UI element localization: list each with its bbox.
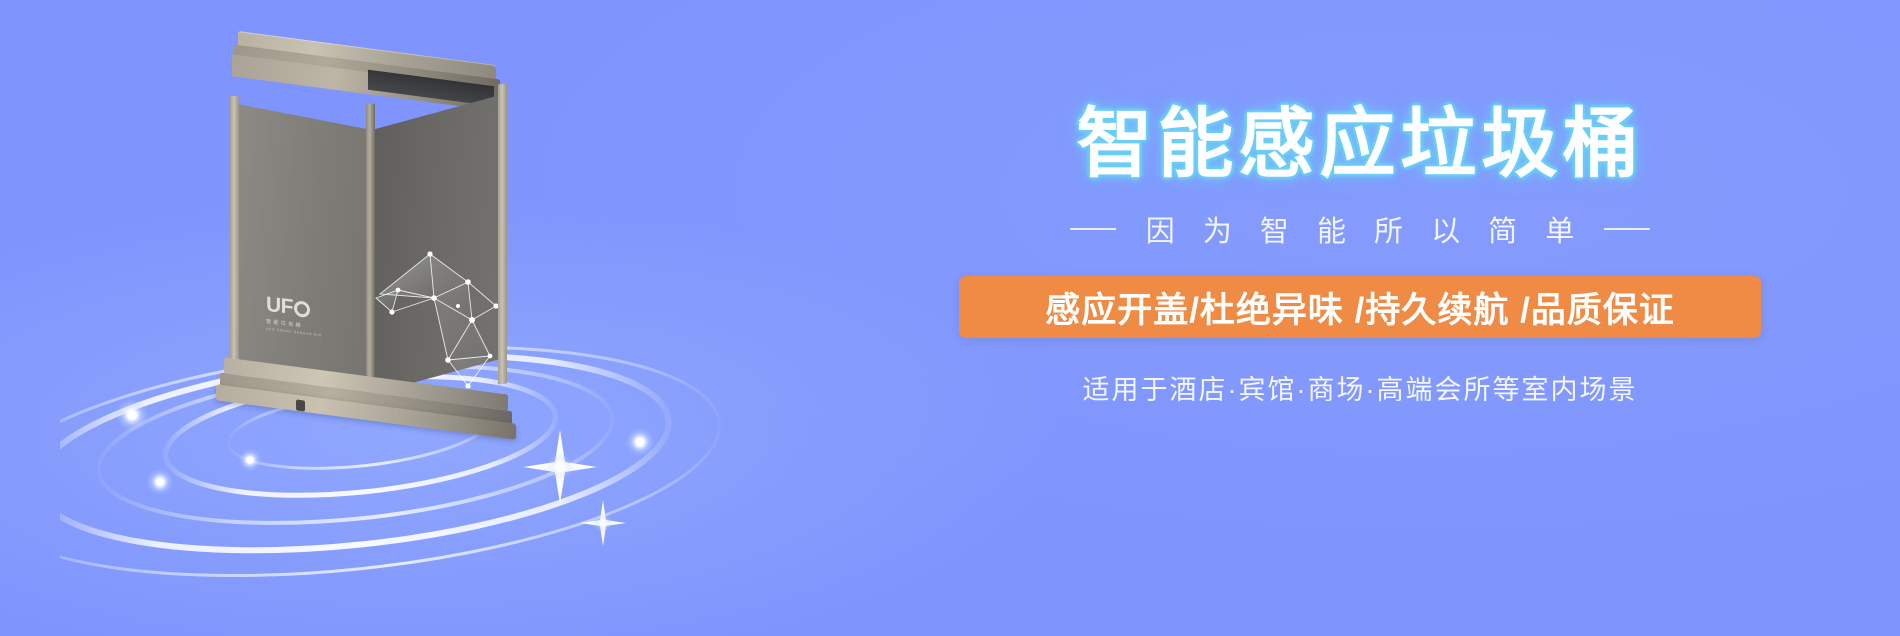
smart-trash-bin: UF 智能垃圾桶 UFO SMART SENSOR BIN — [210, 48, 520, 438]
rule-right-decoration — [1604, 228, 1650, 230]
subheadline-text: 因 为 智 能 所 以 简 单 — [1136, 208, 1584, 250]
feature-highlight-bar: 感应开盖/杜绝异味 /持久续航 /品质保证 — [959, 276, 1761, 338]
bin-edge-pillar-left — [230, 95, 239, 392]
polygon-network-graphic — [372, 228, 506, 398]
brand-mark-letters: UF — [266, 296, 293, 318]
bin-face-left — [232, 94, 372, 394]
bin-edge-pillar-right — [498, 83, 507, 384]
marketing-copy-block: 智能感应垃圾桶 因 为 智 能 所 以 简 单 感应开盖/杜绝异味 /持久续航 … — [880, 104, 1840, 407]
bin-base-keyhole — [296, 399, 305, 411]
feature-highlight-text: 感应开盖/杜绝异味 /持久续航 /品质保证 — [1045, 282, 1675, 333]
headline-title: 智能感应垃圾桶 — [880, 104, 1840, 186]
product-stage: UF 智能垃圾桶 UFO SMART SENSOR BIN — [60, 30, 780, 590]
subheadline-row: 因 为 智 能 所 以 简 单 — [880, 208, 1840, 250]
sparkle-star-small — [580, 500, 626, 546]
product-hero-banner: UF 智能垃圾桶 UFO SMART SENSOR BIN 智能感应垃圾桶 因 … — [0, 0, 1900, 636]
bin-edge-pillar-center — [366, 103, 375, 404]
brand-mark-ring-icon — [294, 301, 310, 319]
rule-left-decoration — [1070, 228, 1116, 230]
usage-scenario-text: 适用于酒店·宾馆·商场·高端会所等室内场景 — [880, 368, 1840, 407]
